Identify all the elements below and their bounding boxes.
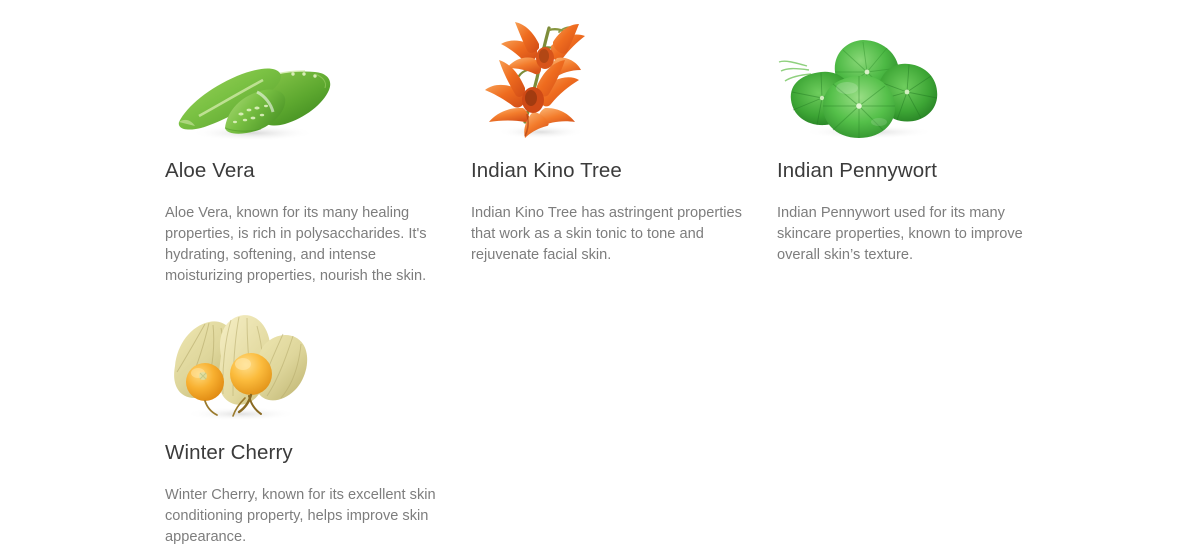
indian-kino-tree-photo [471,18,621,140]
ingredient-card-winter-cherry: Winter Cherry Winter Cherry, known for i… [165,300,455,548]
ingredient-description: Winter Cherry, known for its excellent s… [165,485,443,548]
ingredient-card-aloe-vera: Aloe Vera Aloe Vera, known for its many … [165,18,455,287]
ingredient-description: Aloe Vera, known for its many healing pr… [165,203,441,287]
ingredient-image-aloe-vera [165,18,455,140]
indian-pennywort-photo [777,28,953,140]
ingredient-image-winter-cherry [165,300,455,422]
ingredient-title: Indian Pennywort [777,158,1067,184]
ingredient-image-indian-pennywort [777,18,1067,140]
ingredient-description: Indian Pennywort used for its many skinc… [777,203,1039,266]
winter-cherry-photo [165,310,315,422]
ingredient-title: Indian Kino Tree [471,158,761,184]
ingredient-card-indian-kino-tree: Indian Kino Tree Indian Kino Tree has as… [471,18,761,266]
ingredient-image-indian-kino-tree [471,18,761,140]
ingredient-description: Indian Kino Tree has astringent properti… [471,203,753,266]
ingredient-card-indian-pennywort: Indian Pennywort Indian Pennywort used f… [777,18,1067,266]
aloe-vera-photo [165,40,337,140]
ingredient-title: Aloe Vera [165,158,455,184]
ingredient-title: Winter Cherry [165,440,455,466]
ingredients-grid: Aloe Vera Aloe Vera, known for its many … [0,0,1200,555]
